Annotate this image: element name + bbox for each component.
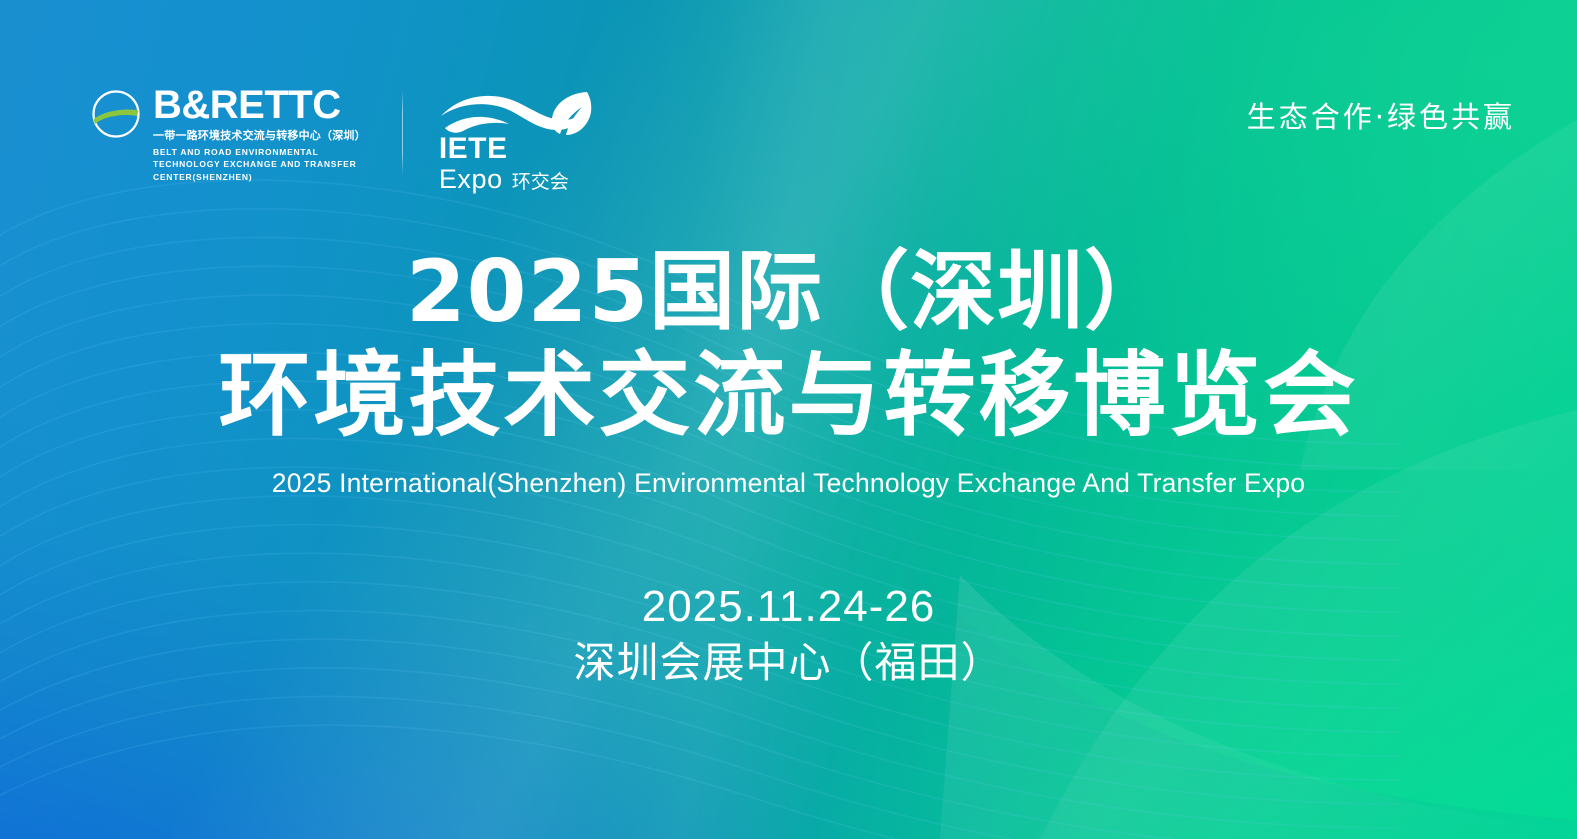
logo-divider — [402, 90, 403, 175]
event-date: 2025.11.24-26 — [642, 582, 936, 631]
iete-name-cn: 环交会 — [512, 173, 569, 193]
expo-banner: B&RETTC 一带一路环境技术交流与转移中心（深圳） BELT AND ROA… — [0, 0, 1577, 839]
brettc-name-cn: 一带一路环境技术交流与转移中心（深圳） — [153, 129, 366, 144]
iete-expo-label: Expo — [439, 165, 503, 193]
iete-subtitle-row: Expo 环交会 — [439, 165, 597, 193]
iete-acronym: IETE — [439, 134, 597, 164]
brettc-text-block: B&RETTC 一带一路环境技术交流与转移中心（深圳） BELT AND ROA… — [153, 86, 366, 183]
logo-brettc: B&RETTC 一带一路环境技术交流与转移中心（深圳） BELT AND ROA… — [88, 86, 366, 183]
logo-iete: IETE Expo 环交会 — [439, 86, 597, 193]
banner-main: 2025国际（深圳） 环境技术交流与转移博览会 2025 Internation… — [0, 246, 1577, 687]
brettc-acronym: B&RETTC — [153, 86, 366, 125]
header-tagline: 生态合作·绿色共赢 — [1247, 86, 1515, 136]
banner-header: B&RETTC 一带一路环境技术交流与转移中心（深圳） BELT AND ROA… — [0, 0, 1577, 210]
title-line-2: 环境技术交流与转移博览会 — [218, 345, 1358, 446]
title-english-subtitle: 2025 International(Shenzhen) Environment… — [272, 468, 1305, 500]
title-line-1: 2025国际（深圳） — [406, 246, 1171, 339]
brettc-name-en: BELT AND ROAD ENVIRONMENTAL TECHNOLOGY E… — [153, 146, 358, 183]
globe-circle-icon — [88, 88, 144, 140]
logo-group: B&RETTC 一带一路环境技术交流与转移中心（深圳） BELT AND ROA… — [88, 86, 597, 193]
event-venue: 深圳会展中心（福田） — [573, 639, 1003, 687]
